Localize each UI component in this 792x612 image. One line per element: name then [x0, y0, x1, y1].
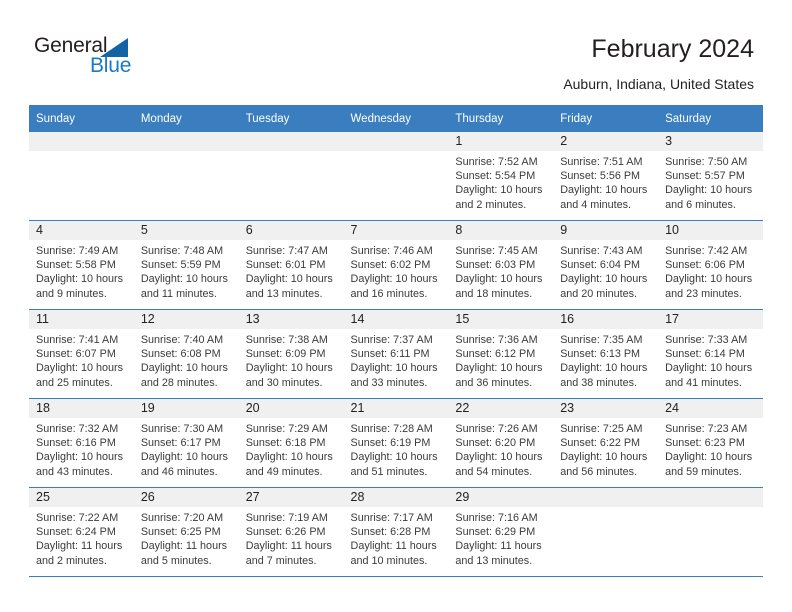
- sunset-text: Sunset: 6:24 PM: [36, 525, 128, 539]
- sunrise-text: Sunrise: 7:42 AM: [665, 244, 757, 258]
- day-details: Sunrise: 7:26 AMSunset: 6:20 PMDaylight:…: [448, 418, 553, 479]
- daylight-text-line2: and 38 minutes.: [560, 376, 652, 390]
- day-number: 2: [553, 132, 658, 151]
- daylight-text-line1: Daylight: 11 hours: [141, 539, 233, 553]
- day-number: 17: [658, 310, 763, 329]
- daylight-text-line2: and 46 minutes.: [141, 465, 233, 479]
- sunrise-text: Sunrise: 7:46 AM: [351, 244, 443, 258]
- sunset-text: Sunset: 6:04 PM: [560, 258, 652, 272]
- sunrise-text: Sunrise: 7:35 AM: [560, 333, 652, 347]
- daylight-text-line1: Daylight: 10 hours: [36, 361, 128, 375]
- day-number: 11: [29, 310, 134, 329]
- daylight-text-line2: and 11 minutes.: [141, 287, 233, 301]
- daylight-text-line1: Daylight: 10 hours: [665, 450, 757, 464]
- day-number: 23: [553, 399, 658, 418]
- daylight-text-line1: Daylight: 10 hours: [351, 361, 443, 375]
- daylight-text-line2: and 51 minutes.: [351, 465, 443, 479]
- sunrise-text: Sunrise: 7:43 AM: [560, 244, 652, 258]
- daylight-text-line1: Daylight: 10 hours: [351, 450, 443, 464]
- sunset-text: Sunset: 6:19 PM: [351, 436, 443, 450]
- calendar-cell-day[interactable]: 2Sunrise: 7:51 AMSunset: 5:56 PMDaylight…: [553, 132, 658, 221]
- sunrise-text: Sunrise: 7:40 AM: [141, 333, 233, 347]
- day-details: Sunrise: 7:22 AMSunset: 6:24 PMDaylight:…: [29, 507, 134, 568]
- calendar-cell-day[interactable]: 23Sunrise: 7:25 AMSunset: 6:22 PMDayligh…: [553, 399, 658, 488]
- calendar-table: Sunday Monday Tuesday Wednesday Thursday…: [29, 105, 763, 577]
- sunrise-text: Sunrise: 7:41 AM: [36, 333, 128, 347]
- calendar-cell-day[interactable]: 13Sunrise: 7:38 AMSunset: 6:09 PMDayligh…: [239, 310, 344, 399]
- daylight-text-line2: and 20 minutes.: [560, 287, 652, 301]
- calendar-header-row: Sunday Monday Tuesday Wednesday Thursday…: [29, 105, 763, 132]
- day-details: Sunrise: 7:50 AMSunset: 5:57 PMDaylight:…: [658, 151, 763, 212]
- weekday-header-saturday: Saturday: [658, 105, 763, 132]
- calendar-cell-day[interactable]: 16Sunrise: 7:35 AMSunset: 6:13 PMDayligh…: [553, 310, 658, 399]
- sunrise-text: Sunrise: 7:22 AM: [36, 511, 128, 525]
- daylight-text-line2: and 36 minutes.: [455, 376, 547, 390]
- weekday-header-monday: Monday: [134, 105, 239, 132]
- daylight-text-line2: and 16 minutes.: [351, 287, 443, 301]
- sunset-text: Sunset: 5:58 PM: [36, 258, 128, 272]
- sunset-text: Sunset: 6:11 PM: [351, 347, 443, 361]
- day-number: 26: [134, 488, 239, 507]
- daylight-text-line1: Daylight: 10 hours: [246, 361, 338, 375]
- sunset-text: Sunset: 6:22 PM: [560, 436, 652, 450]
- daylight-text-line2: and 7 minutes.: [246, 554, 338, 568]
- calendar-cell-day[interactable]: 10Sunrise: 7:42 AMSunset: 6:06 PMDayligh…: [658, 221, 763, 310]
- daylight-text-line2: and 56 minutes.: [560, 465, 652, 479]
- sunset-text: Sunset: 6:17 PM: [141, 436, 233, 450]
- day-details: Sunrise: 7:43 AMSunset: 6:04 PMDaylight:…: [553, 240, 658, 301]
- day-number: [134, 132, 239, 151]
- daylight-text-line2: and 2 minutes.: [36, 554, 128, 568]
- logo-text-blue: Blue: [90, 54, 131, 78]
- daylight-text-line2: and 4 minutes.: [560, 198, 652, 212]
- sunrise-text: Sunrise: 7:32 AM: [36, 422, 128, 436]
- calendar-cell-day[interactable]: 27Sunrise: 7:19 AMSunset: 6:26 PMDayligh…: [239, 488, 344, 577]
- sunrise-text: Sunrise: 7:37 AM: [351, 333, 443, 347]
- daylight-text-line2: and 54 minutes.: [455, 465, 547, 479]
- sunset-text: Sunset: 6:16 PM: [36, 436, 128, 450]
- weekday-header-sunday: Sunday: [29, 105, 134, 132]
- sunset-text: Sunset: 5:54 PM: [455, 169, 547, 183]
- day-number: 27: [239, 488, 344, 507]
- day-details: Sunrise: 7:29 AMSunset: 6:18 PMDaylight:…: [239, 418, 344, 479]
- sunrise-text: Sunrise: 7:30 AM: [141, 422, 233, 436]
- day-details: Sunrise: 7:25 AMSunset: 6:22 PMDaylight:…: [553, 418, 658, 479]
- calendar-week-row: 4Sunrise: 7:49 AMSunset: 5:58 PMDaylight…: [29, 221, 763, 310]
- day-details: Sunrise: 7:38 AMSunset: 6:09 PMDaylight:…: [239, 329, 344, 390]
- sunrise-text: Sunrise: 7:29 AM: [246, 422, 338, 436]
- day-details: Sunrise: 7:46 AMSunset: 6:02 PMDaylight:…: [344, 240, 449, 301]
- day-number: 29: [448, 488, 553, 507]
- calendar-cell-empty: [29, 132, 134, 221]
- calendar-cell-day[interactable]: 19Sunrise: 7:30 AMSunset: 6:17 PMDayligh…: [134, 399, 239, 488]
- calendar-cell-day[interactable]: 7Sunrise: 7:46 AMSunset: 6:02 PMDaylight…: [344, 221, 449, 310]
- sunset-text: Sunset: 6:23 PM: [665, 436, 757, 450]
- general-blue-logo[interactable]: General Blue: [34, 34, 144, 82]
- sunset-text: Sunset: 6:02 PM: [351, 258, 443, 272]
- day-details: Sunrise: 7:51 AMSunset: 5:56 PMDaylight:…: [553, 151, 658, 212]
- calendar-cell-empty: [134, 132, 239, 221]
- day-details: Sunrise: 7:35 AMSunset: 6:13 PMDaylight:…: [553, 329, 658, 390]
- calendar-cell-day[interactable]: 20Sunrise: 7:29 AMSunset: 6:18 PMDayligh…: [239, 399, 344, 488]
- sunrise-text: Sunrise: 7:28 AM: [351, 422, 443, 436]
- daylight-text-line2: and 13 minutes.: [246, 287, 338, 301]
- sunset-text: Sunset: 6:14 PM: [665, 347, 757, 361]
- day-details: Sunrise: 7:49 AMSunset: 5:58 PMDaylight:…: [29, 240, 134, 301]
- day-number: [658, 488, 763, 507]
- day-number: 22: [448, 399, 553, 418]
- sunset-text: Sunset: 6:25 PM: [141, 525, 233, 539]
- sunrise-text: Sunrise: 7:50 AM: [665, 155, 757, 169]
- day-details: Sunrise: 7:47 AMSunset: 6:01 PMDaylight:…: [239, 240, 344, 301]
- daylight-text-line1: Daylight: 10 hours: [560, 272, 652, 286]
- calendar-cell-day[interactable]: 5Sunrise: 7:48 AMSunset: 5:59 PMDaylight…: [134, 221, 239, 310]
- daylight-text-line1: Daylight: 10 hours: [141, 361, 233, 375]
- sunset-text: Sunset: 5:56 PM: [560, 169, 652, 183]
- calendar-week-row: 11Sunrise: 7:41 AMSunset: 6:07 PMDayligh…: [29, 310, 763, 399]
- day-number: 28: [344, 488, 449, 507]
- calendar-week-row: 25Sunrise: 7:22 AMSunset: 6:24 PMDayligh…: [29, 488, 763, 577]
- day-number: 1: [448, 132, 553, 151]
- sunset-text: Sunset: 5:59 PM: [141, 258, 233, 272]
- sunset-text: Sunset: 6:09 PM: [246, 347, 338, 361]
- daylight-text-line2: and 6 minutes.: [665, 198, 757, 212]
- day-number: [344, 132, 449, 151]
- calendar-cell-day[interactable]: 26Sunrise: 7:20 AMSunset: 6:25 PMDayligh…: [134, 488, 239, 577]
- calendar-cell-empty: [344, 132, 449, 221]
- day-number: [239, 132, 344, 151]
- calendar-cell-day[interactable]: 22Sunrise: 7:26 AMSunset: 6:20 PMDayligh…: [448, 399, 553, 488]
- daylight-text-line1: Daylight: 10 hours: [351, 272, 443, 286]
- daylight-text-line2: and 49 minutes.: [246, 465, 338, 479]
- daylight-text-line1: Daylight: 10 hours: [455, 183, 547, 197]
- daylight-text-line1: Daylight: 11 hours: [36, 539, 128, 553]
- calendar-cell-day[interactable]: 25Sunrise: 7:22 AMSunset: 6:24 PMDayligh…: [29, 488, 134, 577]
- sunrise-text: Sunrise: 7:45 AM: [455, 244, 547, 258]
- daylight-text-line1: Daylight: 10 hours: [665, 361, 757, 375]
- day-details: Sunrise: 7:20 AMSunset: 6:25 PMDaylight:…: [134, 507, 239, 568]
- daylight-text-line1: Daylight: 10 hours: [455, 450, 547, 464]
- page-subtitle: Auburn, Indiana, United States: [563, 75, 754, 93]
- calendar-body: 1Sunrise: 7:52 AMSunset: 5:54 PMDaylight…: [29, 132, 763, 577]
- day-number: 15: [448, 310, 553, 329]
- daylight-text-line1: Daylight: 11 hours: [246, 539, 338, 553]
- calendar-cell-day[interactable]: 17Sunrise: 7:33 AMSunset: 6:14 PMDayligh…: [658, 310, 763, 399]
- day-number: 19: [134, 399, 239, 418]
- day-details: Sunrise: 7:28 AMSunset: 6:19 PMDaylight:…: [344, 418, 449, 479]
- sunrise-text: Sunrise: 7:38 AM: [246, 333, 338, 347]
- weekday-header-tuesday: Tuesday: [239, 105, 344, 132]
- sunset-text: Sunset: 6:13 PM: [560, 347, 652, 361]
- day-number: 12: [134, 310, 239, 329]
- calendar-cell-day[interactable]: 24Sunrise: 7:23 AMSunset: 6:23 PMDayligh…: [658, 399, 763, 488]
- day-number: 5: [134, 221, 239, 240]
- day-details: Sunrise: 7:42 AMSunset: 6:06 PMDaylight:…: [658, 240, 763, 301]
- day-number: 9: [553, 221, 658, 240]
- sunset-text: Sunset: 6:18 PM: [246, 436, 338, 450]
- sunrise-text: Sunrise: 7:36 AM: [455, 333, 547, 347]
- calendar-cell-day[interactable]: 9Sunrise: 7:43 AMSunset: 6:04 PMDaylight…: [553, 221, 658, 310]
- sunrise-text: Sunrise: 7:16 AM: [455, 511, 547, 525]
- calendar-cell-day[interactable]: 11Sunrise: 7:41 AMSunset: 6:07 PMDayligh…: [29, 310, 134, 399]
- page-header: General Blue February 2024 Auburn, India…: [0, 0, 792, 100]
- daylight-text-line2: and 9 minutes.: [36, 287, 128, 301]
- day-details: Sunrise: 7:40 AMSunset: 6:08 PMDaylight:…: [134, 329, 239, 390]
- weekday-header-thursday: Thursday: [448, 105, 553, 132]
- sunrise-text: Sunrise: 7:52 AM: [455, 155, 547, 169]
- sunset-text: Sunset: 6:29 PM: [455, 525, 547, 539]
- day-number: 10: [658, 221, 763, 240]
- sunrise-text: Sunrise: 7:48 AM: [141, 244, 233, 258]
- sunset-text: Sunset: 6:07 PM: [36, 347, 128, 361]
- day-number: 18: [29, 399, 134, 418]
- sunset-text: Sunset: 6:06 PM: [665, 258, 757, 272]
- daylight-text-line2: and 23 minutes.: [665, 287, 757, 301]
- weekday-header-wednesday: Wednesday: [344, 105, 449, 132]
- day-number: 21: [344, 399, 449, 418]
- sunrise-text: Sunrise: 7:47 AM: [246, 244, 338, 258]
- daylight-text-line2: and 43 minutes.: [36, 465, 128, 479]
- daylight-text-line2: and 13 minutes.: [455, 554, 547, 568]
- calendar-cell-day[interactable]: 4Sunrise: 7:49 AMSunset: 5:58 PMDaylight…: [29, 221, 134, 310]
- day-details: Sunrise: 7:48 AMSunset: 5:59 PMDaylight:…: [134, 240, 239, 301]
- calendar-cell-empty: [658, 488, 763, 577]
- sunrise-text: Sunrise: 7:51 AM: [560, 155, 652, 169]
- sunset-text: Sunset: 6:20 PM: [455, 436, 547, 450]
- daylight-text-line1: Daylight: 10 hours: [665, 272, 757, 286]
- day-details: Sunrise: 7:33 AMSunset: 6:14 PMDaylight:…: [658, 329, 763, 390]
- daylight-text-line1: Daylight: 10 hours: [455, 272, 547, 286]
- day-number: 24: [658, 399, 763, 418]
- daylight-text-line1: Daylight: 11 hours: [455, 539, 547, 553]
- day-number: 13: [239, 310, 344, 329]
- sunset-text: Sunset: 5:57 PM: [665, 169, 757, 183]
- day-number: [553, 488, 658, 507]
- calendar-cell-day[interactable]: 1Sunrise: 7:52 AMSunset: 5:54 PMDaylight…: [448, 132, 553, 221]
- day-details: Sunrise: 7:30 AMSunset: 6:17 PMDaylight:…: [134, 418, 239, 479]
- day-number: 4: [29, 221, 134, 240]
- day-number: 25: [29, 488, 134, 507]
- sunrise-text: Sunrise: 7:23 AM: [665, 422, 757, 436]
- sunset-text: Sunset: 6:03 PM: [455, 258, 547, 272]
- day-details: Sunrise: 7:45 AMSunset: 6:03 PMDaylight:…: [448, 240, 553, 301]
- calendar-cell-day[interactable]: 6Sunrise: 7:47 AMSunset: 6:01 PMDaylight…: [239, 221, 344, 310]
- day-details: Sunrise: 7:16 AMSunset: 6:29 PMDaylight:…: [448, 507, 553, 568]
- daylight-text-line2: and 10 minutes.: [351, 554, 443, 568]
- day-details: Sunrise: 7:37 AMSunset: 6:11 PMDaylight:…: [344, 329, 449, 390]
- day-details: Sunrise: 7:32 AMSunset: 6:16 PMDaylight:…: [29, 418, 134, 479]
- daylight-text-line1: Daylight: 10 hours: [560, 450, 652, 464]
- daylight-text-line2: and 25 minutes.: [36, 376, 128, 390]
- daylight-text-line1: Daylight: 10 hours: [141, 450, 233, 464]
- calendar-cell-empty: [239, 132, 344, 221]
- sunrise-text: Sunrise: 7:19 AM: [246, 511, 338, 525]
- daylight-text-line2: and 30 minutes.: [246, 376, 338, 390]
- day-number: 16: [553, 310, 658, 329]
- day-details: Sunrise: 7:23 AMSunset: 6:23 PMDaylight:…: [658, 418, 763, 479]
- calendar-cell-day[interactable]: 12Sunrise: 7:40 AMSunset: 6:08 PMDayligh…: [134, 310, 239, 399]
- daylight-text-line2: and 28 minutes.: [141, 376, 233, 390]
- calendar-week-row: 18Sunrise: 7:32 AMSunset: 6:16 PMDayligh…: [29, 399, 763, 488]
- daylight-text-line2: and 33 minutes.: [351, 376, 443, 390]
- calendar-week-row: 1Sunrise: 7:52 AMSunset: 5:54 PMDaylight…: [29, 132, 763, 221]
- daylight-text-line1: Daylight: 10 hours: [560, 361, 652, 375]
- daylight-text-line1: Daylight: 11 hours: [351, 539, 443, 553]
- calendar-cell-day[interactable]: 15Sunrise: 7:36 AMSunset: 6:12 PMDayligh…: [448, 310, 553, 399]
- sunrise-text: Sunrise: 7:25 AM: [560, 422, 652, 436]
- calendar-cell-day[interactable]: 3Sunrise: 7:50 AMSunset: 5:57 PMDaylight…: [658, 132, 763, 221]
- daylight-text-line1: Daylight: 10 hours: [36, 272, 128, 286]
- daylight-text-line1: Daylight: 10 hours: [455, 361, 547, 375]
- day-details: Sunrise: 7:52 AMSunset: 5:54 PMDaylight:…: [448, 151, 553, 212]
- daylight-text-line2: and 18 minutes.: [455, 287, 547, 301]
- calendar-cell-day[interactable]: 21Sunrise: 7:28 AMSunset: 6:19 PMDayligh…: [344, 399, 449, 488]
- sunset-text: Sunset: 6:28 PM: [351, 525, 443, 539]
- daylight-text-line2: and 5 minutes.: [141, 554, 233, 568]
- day-details: Sunrise: 7:19 AMSunset: 6:26 PMDaylight:…: [239, 507, 344, 568]
- calendar-cell-day[interactable]: 18Sunrise: 7:32 AMSunset: 6:16 PMDayligh…: [29, 399, 134, 488]
- day-details: Sunrise: 7:36 AMSunset: 6:12 PMDaylight:…: [448, 329, 553, 390]
- calendar-cell-day[interactable]: 29Sunrise: 7:16 AMSunset: 6:29 PMDayligh…: [448, 488, 553, 577]
- daylight-text-line2: and 59 minutes.: [665, 465, 757, 479]
- day-number: 8: [448, 221, 553, 240]
- daylight-text-line2: and 2 minutes.: [455, 198, 547, 212]
- day-details: Sunrise: 7:17 AMSunset: 6:28 PMDaylight:…: [344, 507, 449, 568]
- calendar-grid: Sunday Monday Tuesday Wednesday Thursday…: [29, 105, 763, 577]
- sunset-text: Sunset: 6:08 PM: [141, 347, 233, 361]
- calendar-cell-empty: [553, 488, 658, 577]
- daylight-text-line1: Daylight: 10 hours: [141, 272, 233, 286]
- daylight-text-line1: Daylight: 10 hours: [665, 183, 757, 197]
- day-details: Sunrise: 7:41 AMSunset: 6:07 PMDaylight:…: [29, 329, 134, 390]
- sunrise-text: Sunrise: 7:49 AM: [36, 244, 128, 258]
- calendar-cell-day[interactable]: 14Sunrise: 7:37 AMSunset: 6:11 PMDayligh…: [344, 310, 449, 399]
- day-number: [29, 132, 134, 151]
- sunrise-text: Sunrise: 7:20 AM: [141, 511, 233, 525]
- day-number: 7: [344, 221, 449, 240]
- daylight-text-line1: Daylight: 10 hours: [36, 450, 128, 464]
- day-number: 14: [344, 310, 449, 329]
- calendar-cell-day[interactable]: 8Sunrise: 7:45 AMSunset: 6:03 PMDaylight…: [448, 221, 553, 310]
- day-number: 3: [658, 132, 763, 151]
- day-number: 20: [239, 399, 344, 418]
- daylight-text-line1: Daylight: 10 hours: [246, 272, 338, 286]
- calendar-cell-day[interactable]: 28Sunrise: 7:17 AMSunset: 6:28 PMDayligh…: [344, 488, 449, 577]
- sunrise-text: Sunrise: 7:26 AM: [455, 422, 547, 436]
- weekday-header-friday: Friday: [553, 105, 658, 132]
- sunset-text: Sunset: 6:26 PM: [246, 525, 338, 539]
- sunset-text: Sunset: 6:01 PM: [246, 258, 338, 272]
- sunrise-text: Sunrise: 7:33 AM: [665, 333, 757, 347]
- daylight-text-line1: Daylight: 10 hours: [246, 450, 338, 464]
- calendar-page: General Blue February 2024 Auburn, India…: [0, 0, 792, 612]
- day-number: 6: [239, 221, 344, 240]
- daylight-text-line2: and 41 minutes.: [665, 376, 757, 390]
- page-title: February 2024: [591, 34, 754, 64]
- sunset-text: Sunset: 6:12 PM: [455, 347, 547, 361]
- daylight-text-line1: Daylight: 10 hours: [560, 183, 652, 197]
- sunrise-text: Sunrise: 7:17 AM: [351, 511, 443, 525]
